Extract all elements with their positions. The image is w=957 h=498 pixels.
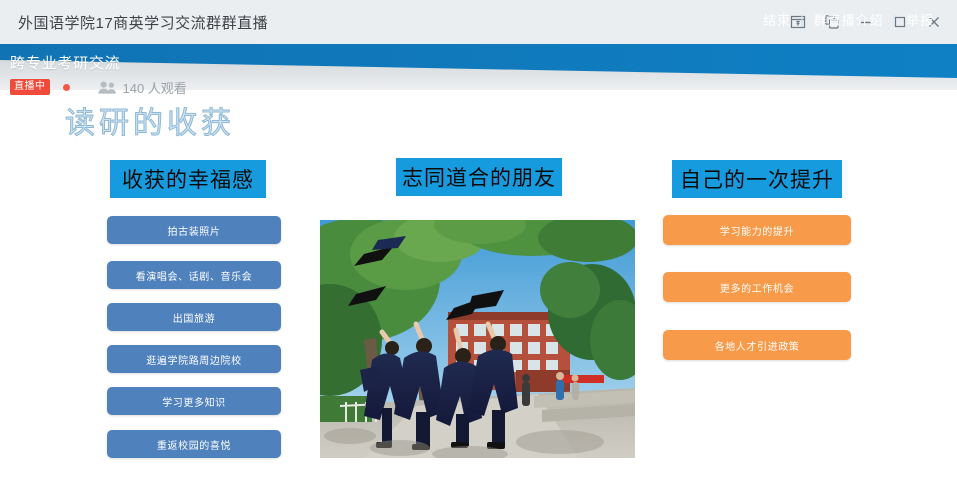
end-stream-link[interactable]: 结束: [754, 10, 800, 29]
column-heading-happiness: 收获的幸福感: [110, 160, 266, 198]
window-title: 外国语学院17商英学习交流群群直播: [18, 12, 268, 33]
column-heading-friends: 志同道合的朋友: [396, 158, 562, 196]
list-item: 重返校园的喜悦: [107, 430, 281, 458]
live-dot-icon: [63, 84, 70, 91]
viewer-count: 140 人观看: [123, 78, 187, 97]
list-item: 更多的工作机会: [663, 272, 851, 302]
list-item: 学习更多知识: [107, 387, 281, 415]
stream-intro-link[interactable]: 群直播介绍: [805, 10, 893, 29]
viewers-people-icon: [98, 81, 117, 94]
list-item: 拍古装照片: [107, 216, 281, 244]
list-item: 逛遍学院路周边院校: [107, 345, 281, 373]
list-item: 学习能力的提升: [663, 215, 851, 245]
header-action-links: 结束 | 群直播介绍 | 举报: [754, 10, 943, 29]
live-status-row: 直播中 140 人观看: [10, 78, 187, 96]
graduation-photo: [320, 220, 635, 458]
room-title: 跨专业考研交流: [10, 52, 121, 73]
list-item: 看演唱会、话剧、音乐会: [107, 261, 281, 289]
live-badge: 直播中: [10, 79, 50, 95]
slide-canvas: 读研的收获 收获的幸福感 志同道合的朋友 自己的一次提升 拍古装照片 看演唱会、…: [0, 90, 957, 498]
graduation-photo-artwork: [320, 220, 635, 458]
column-heading-improvement: 自己的一次提升: [672, 160, 842, 198]
live-stream-window: 外国语学院17商英学习交流群群直播: [0, 0, 957, 498]
report-link[interactable]: 举报: [897, 10, 943, 29]
list-item: 出国旅游: [107, 303, 281, 331]
slide-title: 读研的收获: [65, 98, 235, 142]
list-item: 各地人才引进政策: [663, 330, 851, 360]
